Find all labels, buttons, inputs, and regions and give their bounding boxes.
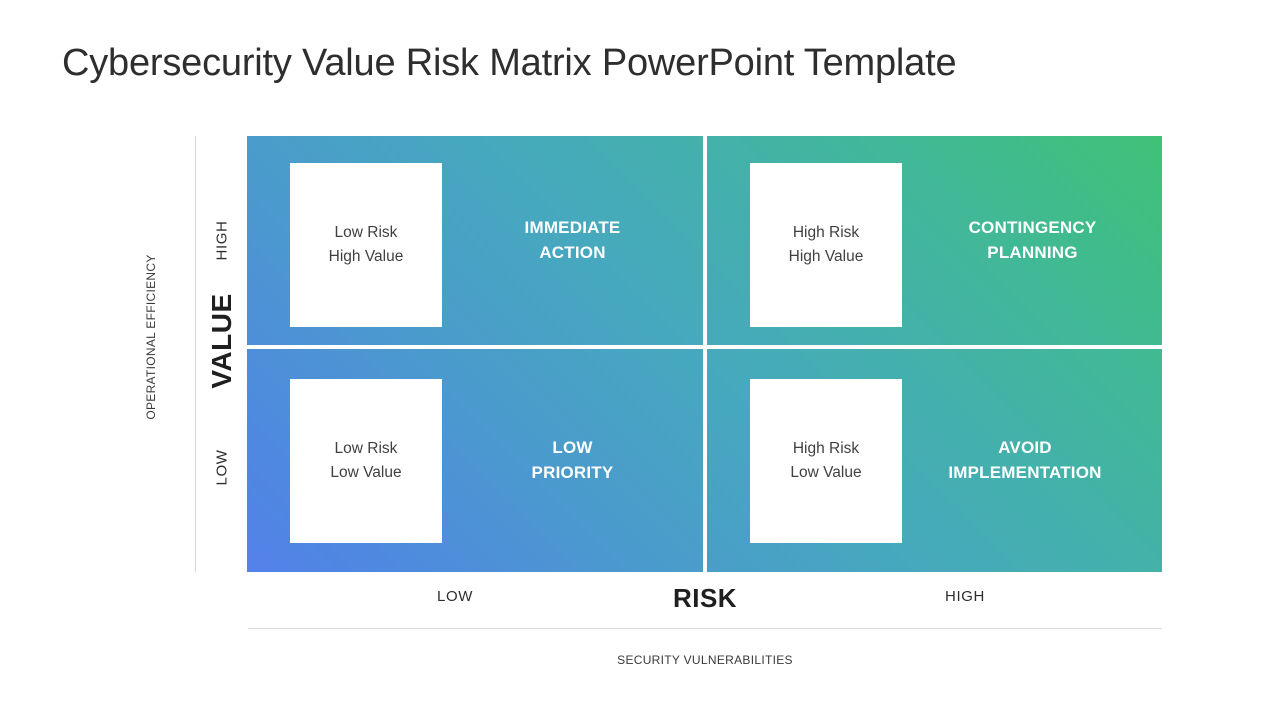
x-axis-tick-low: LOW xyxy=(375,588,535,605)
quadrant-card-low-risk-high-value: Low Risk High Value xyxy=(290,163,442,327)
action-line-1: LOW xyxy=(552,438,592,457)
x-axis-tick-high: HIGH xyxy=(885,588,1045,605)
action-line-2: PRIORITY xyxy=(532,463,614,482)
card-text: High Risk Low Value xyxy=(790,437,861,485)
quadrant-high-risk-high-value[interactable]: High Risk High Value CONTINGENCY PLANNIN… xyxy=(707,136,1163,345)
action-line-2: ACTION xyxy=(539,243,605,262)
card-line-2: Low Value xyxy=(330,464,401,481)
card-line-2: High Value xyxy=(789,248,864,265)
page-title: Cybersecurity Value Risk Matrix PowerPoi… xyxy=(62,42,956,85)
card-text: High Risk High Value xyxy=(789,221,864,269)
card-line-1: Low Risk xyxy=(335,224,398,241)
action-line-2: PLANNING xyxy=(987,243,1077,262)
quadrant-action-contingency-planning: CONTINGENCY PLANNING xyxy=(902,136,1163,345)
card-line-2: High Value xyxy=(329,248,404,265)
y-axis-tick-high: HIGH xyxy=(214,201,231,281)
x-axis-title: RISK xyxy=(605,583,805,614)
x-axis-subtitle: SECURITY VULNERABILITIES xyxy=(505,653,905,667)
y-axis-title: VALUE xyxy=(206,286,238,396)
quadrant-action-avoid-implementation: AVOID IMPLEMENTATION xyxy=(887,349,1163,572)
card-line-1: High Risk xyxy=(793,224,859,241)
quadrant-low-risk-low-value[interactable]: Low Risk Low Value LOW PRIORITY xyxy=(247,349,703,572)
quadrant-action-immediate-action: IMMEDIATE ACTION xyxy=(442,136,703,345)
quadrant-card-high-risk-low-value: High Risk Low Value xyxy=(750,379,902,543)
quadrant-card-high-risk-high-value: High Risk High Value xyxy=(750,163,902,327)
quadrant-low-risk-high-value[interactable]: Low Risk High Value IMMEDIATE ACTION xyxy=(247,136,703,345)
action-line-1: IMMEDIATE xyxy=(525,218,621,237)
quadrant-high-risk-low-value[interactable]: High Risk Low Value AVOID IMPLEMENTATION xyxy=(707,349,1163,572)
card-line-2: Low Value xyxy=(790,464,861,481)
y-axis-subtitle: OPERATIONAL EFFICIENCY xyxy=(144,252,158,422)
card-text: Low Risk Low Value xyxy=(330,437,401,485)
y-axis-tick-low: LOW xyxy=(214,428,231,508)
card-line-1: High Risk xyxy=(793,440,859,457)
risk-value-matrix: Low Risk High Value IMMEDIATE ACTION Hig… xyxy=(247,136,1162,572)
action-line-1: AVOID xyxy=(998,438,1052,457)
quadrant-action-low-priority: LOW PRIORITY xyxy=(442,349,703,572)
x-axis-line xyxy=(248,628,1162,629)
card-text: Low Risk High Value xyxy=(329,221,404,269)
action-line-1: CONTINGENCY xyxy=(969,218,1097,237)
quadrant-card-low-risk-low-value: Low Risk Low Value xyxy=(290,379,442,543)
action-line-2: IMPLEMENTATION xyxy=(948,463,1101,482)
card-line-1: Low Risk xyxy=(335,440,398,457)
y-axis-line xyxy=(195,136,196,572)
